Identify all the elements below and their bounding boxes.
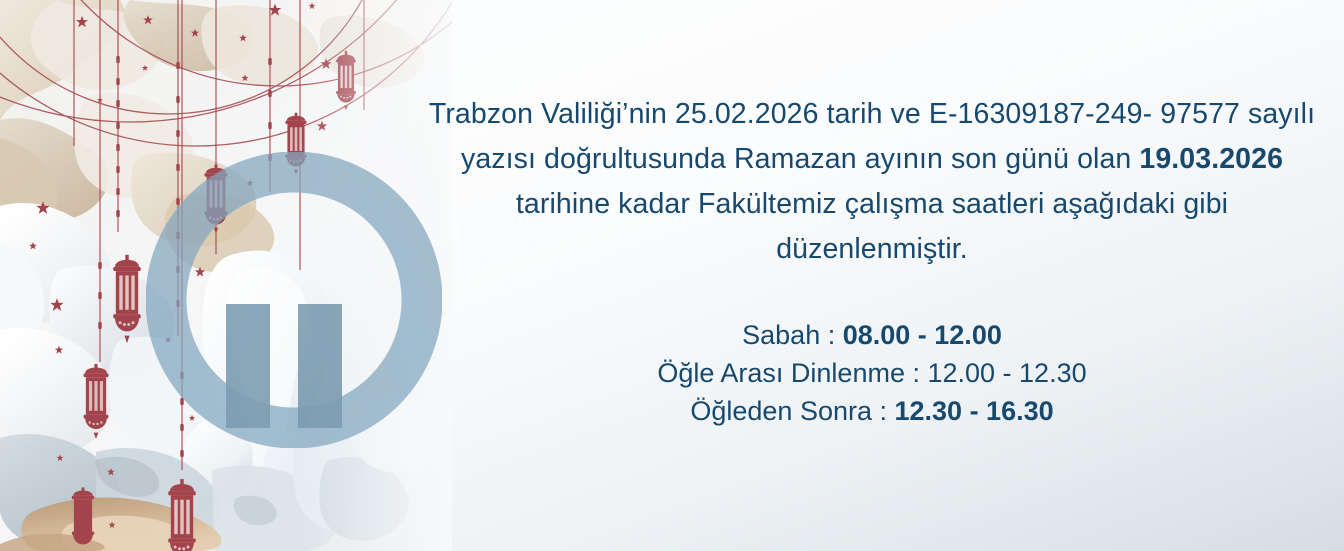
schedule-hours-afternoon: 12.30 - 16.30: [895, 396, 1054, 426]
schedule-label-morning: Sabah :: [742, 320, 843, 350]
notice-paragraph: Trabzon Valiliği’nin 25.02.2026 tarih ve…: [419, 92, 1325, 272]
schedule-label-lunch-break: Öğle Arası Dinlenme :: [657, 358, 927, 388]
schedule-row-afternoon: Öğleden Sonra : 12.30 - 16.30: [419, 392, 1325, 430]
schedule-row-morning: Sabah : 08.00 - 12.00: [419, 316, 1325, 354]
notice-line-1: Trabzon Valiliği’nin 25.02.2026 tarih ve…: [429, 98, 1152, 130]
notice-date-bold: 19.03.2026: [1139, 143, 1283, 175]
schedule-label-afternoon: Öğleden Sonra :: [690, 396, 894, 426]
schedule-hours-lunch-break: 12.00 - 12.30: [927, 358, 1086, 388]
artwork-panel: [0, 0, 452, 551]
ramadan-working-hours-banner: Trabzon Valiliği’nin 25.02.2026 tarih ve…: [0, 0, 1344, 551]
notice-line-3-suffix: tarihine kadar Fakültemiz çalışma saatle…: [516, 188, 1045, 220]
announcement-text-column: Trabzon Valiliği’nin 25.02.2026 tarih ve…: [400, 0, 1344, 551]
abstract-sculpture-artwork: [0, 0, 452, 551]
schedule-row-lunch-break: Öğle Arası Dinlenme : 12.00 - 12.30: [419, 354, 1325, 392]
notice-line-3-prefix: olan: [1077, 143, 1139, 175]
schedule-hours-morning: 08.00 - 12.00: [843, 320, 1002, 350]
working-hours-schedule: Sabah : 08.00 - 12.00 Öğle Arası Dinlenm…: [419, 316, 1325, 430]
